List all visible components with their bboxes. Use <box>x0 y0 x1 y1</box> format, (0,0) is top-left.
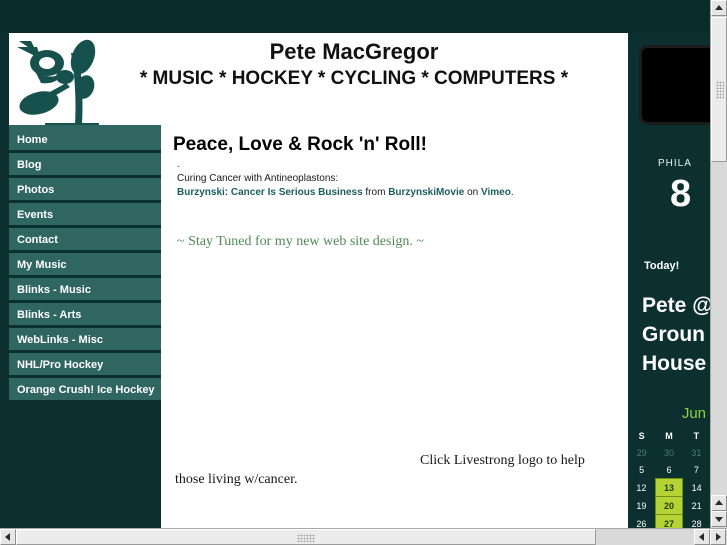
big-number: 8 <box>670 173 691 216</box>
site-tagline: * MUSIC * HOCKEY * CYCLING * COMPUTERS * <box>89 67 619 91</box>
calendar-header-row: S M T <box>628 428 710 444</box>
vimeo-link[interactable]: Vimeo <box>481 187 511 198</box>
calendar-table: S M T 29 30 31 5 6 7 12 13 <box>628 428 710 528</box>
event-title-line-2: Groun <box>642 320 710 349</box>
sidebar-item-orange-crush[interactable]: Orange Crush! Ice Hockey <box>9 378 161 402</box>
calendar-day[interactable]: 5 <box>628 461 655 479</box>
triangle-right-icon <box>716 533 721 541</box>
scroll-up-button-bottom[interactable] <box>711 495 727 511</box>
video-author-link[interactable]: BurzynskiMovie <box>388 187 464 198</box>
sidebar-item-blinks-music[interactable]: Blinks - Music <box>9 278 161 302</box>
triangle-left-icon <box>5 533 10 541</box>
calendar-row: 19 20 21 <box>628 497 710 515</box>
sidebar-item-nhl-pro-hockey[interactable]: NHL/Pro Hockey <box>9 353 161 377</box>
livestrong-line-1: Click Livestrong logo to help <box>420 451 628 470</box>
sidebar-item-photos[interactable]: Photos <box>9 178 161 202</box>
calendar-day[interactable]: 7 <box>683 461 710 479</box>
scroll-up-button[interactable] <box>711 0 727 16</box>
calendar-day[interactable]: 14 <box>683 479 710 497</box>
calendar-row: 5 6 7 <box>628 461 710 479</box>
calendar-day[interactable]: 19 <box>628 497 655 515</box>
calendar-row: 12 13 14 <box>628 479 710 497</box>
calendar-day-highlighted[interactable]: 27 <box>655 515 683 529</box>
video-credit-line: Burzynski: Cancer Is Serious Business fr… <box>177 186 628 200</box>
right-widget-column: PHILA 8 Today! Pete @ Groun House Jun S … <box>628 33 710 528</box>
site-container: Pete MacGregor * MUSIC * HOCKEY * CYCLIN… <box>9 33 628 528</box>
event-title-line-3: House <box>642 349 710 378</box>
on-word: on <box>467 187 478 198</box>
calendar-day-highlighted[interactable]: 20 <box>655 497 683 515</box>
sidebar-item-blog[interactable]: Blog <box>9 153 161 177</box>
from-word: from <box>365 187 385 198</box>
vertical-scrollbar[interactable] <box>710 0 727 528</box>
calendar-day[interactable]: 29 <box>628 444 655 461</box>
calendar-weekday-s: S <box>628 428 655 444</box>
scroll-down-button[interactable] <box>711 511 727 527</box>
sidebar-item-blinks-arts[interactable]: Blinks - Arts <box>9 303 161 327</box>
grip-icon <box>716 81 724 99</box>
calendar-widget: Jun S M T 29 30 31 5 6 7 <box>628 405 710 528</box>
scroll-left-button-right[interactable] <box>694 529 710 545</box>
grip-icon <box>297 534 315 542</box>
title-block: Pete MacGregor * MUSIC * HOCKEY * CYCLIN… <box>89 39 619 91</box>
calendar-day[interactable]: 6 <box>655 461 683 479</box>
livestrong-note: Click Livestrong logo to help those livi… <box>167 451 628 489</box>
scroll-right-button[interactable] <box>710 529 726 545</box>
stay-tuned-note: ~ Stay Tuned for my new web site design.… <box>177 234 628 250</box>
content-dash: - <box>177 161 628 171</box>
sidebar-item-events[interactable]: Events <box>9 203 161 227</box>
calendar-weekday-m: M <box>655 428 683 444</box>
sidebar-nav: Home Blog Photos Events Contact My Music… <box>9 125 161 528</box>
calendar-day-highlighted[interactable]: 13 <box>655 479 683 497</box>
calendar-day[interactable]: 28 <box>683 515 710 529</box>
period: . <box>511 187 514 198</box>
calendar-month-label: Jun <box>628 405 710 422</box>
scroll-left-button[interactable] <box>0 529 16 545</box>
event-title-line-1: Pete @ <box>642 291 710 320</box>
sidebar-item-contact[interactable]: Contact <box>9 228 161 252</box>
video-title-link[interactable]: Burzynski: Cancer Is Serious Business <box>177 187 363 198</box>
calendar-day[interactable]: 30 <box>655 444 683 461</box>
sidebar-item-my-music[interactable]: My Music <box>9 253 161 277</box>
calendar-day[interactable]: 21 <box>683 497 710 515</box>
triangle-up-icon <box>715 5 723 10</box>
horizontal-scrollbar[interactable] <box>0 528 727 545</box>
content-caption: Curing Cancer with Antineoplastons: <box>177 172 628 186</box>
event-title[interactable]: Pete @ Groun House <box>642 291 710 378</box>
vertical-scrollbar-thumb[interactable] <box>711 17 727 162</box>
site-title: Pete MacGregor <box>89 39 619 65</box>
calendar-day[interactable]: 31 <box>683 444 710 461</box>
top-band <box>0 0 710 33</box>
calendar-row: 29 30 31 <box>628 444 710 461</box>
body-columns: Home Blog Photos Events Contact My Music… <box>9 125 628 528</box>
livestrong-line-2: those living w/cancer. <box>175 470 628 489</box>
triangle-down-icon <box>715 517 723 522</box>
calendar-day[interactable]: 26 <box>628 515 655 529</box>
video-player[interactable] <box>639 45 710 125</box>
today-label: Today! <box>644 260 679 272</box>
horizontal-scrollbar-thumb[interactable] <box>16 529 596 545</box>
page-title: Peace, Love & Rock 'n' Roll! <box>173 133 628 157</box>
calendar-weekday-t: T <box>683 428 710 444</box>
calendar-day[interactable]: 12 <box>628 479 655 497</box>
sidebar-item-home[interactable]: Home <box>9 128 161 152</box>
main-content: Peace, Love & Rock 'n' Roll! - Curing Ca… <box>167 125 628 528</box>
venue-city-label: PHILA <box>658 158 692 169</box>
triangle-left-icon <box>699 533 704 541</box>
site-header: Pete MacGregor * MUSIC * HOCKEY * CYCLIN… <box>9 33 628 125</box>
triangle-up-icon <box>715 500 723 505</box>
sidebar-item-weblinks-misc[interactable]: WebLinks - Misc <box>9 328 161 352</box>
calendar-row: 26 27 28 <box>628 515 710 529</box>
